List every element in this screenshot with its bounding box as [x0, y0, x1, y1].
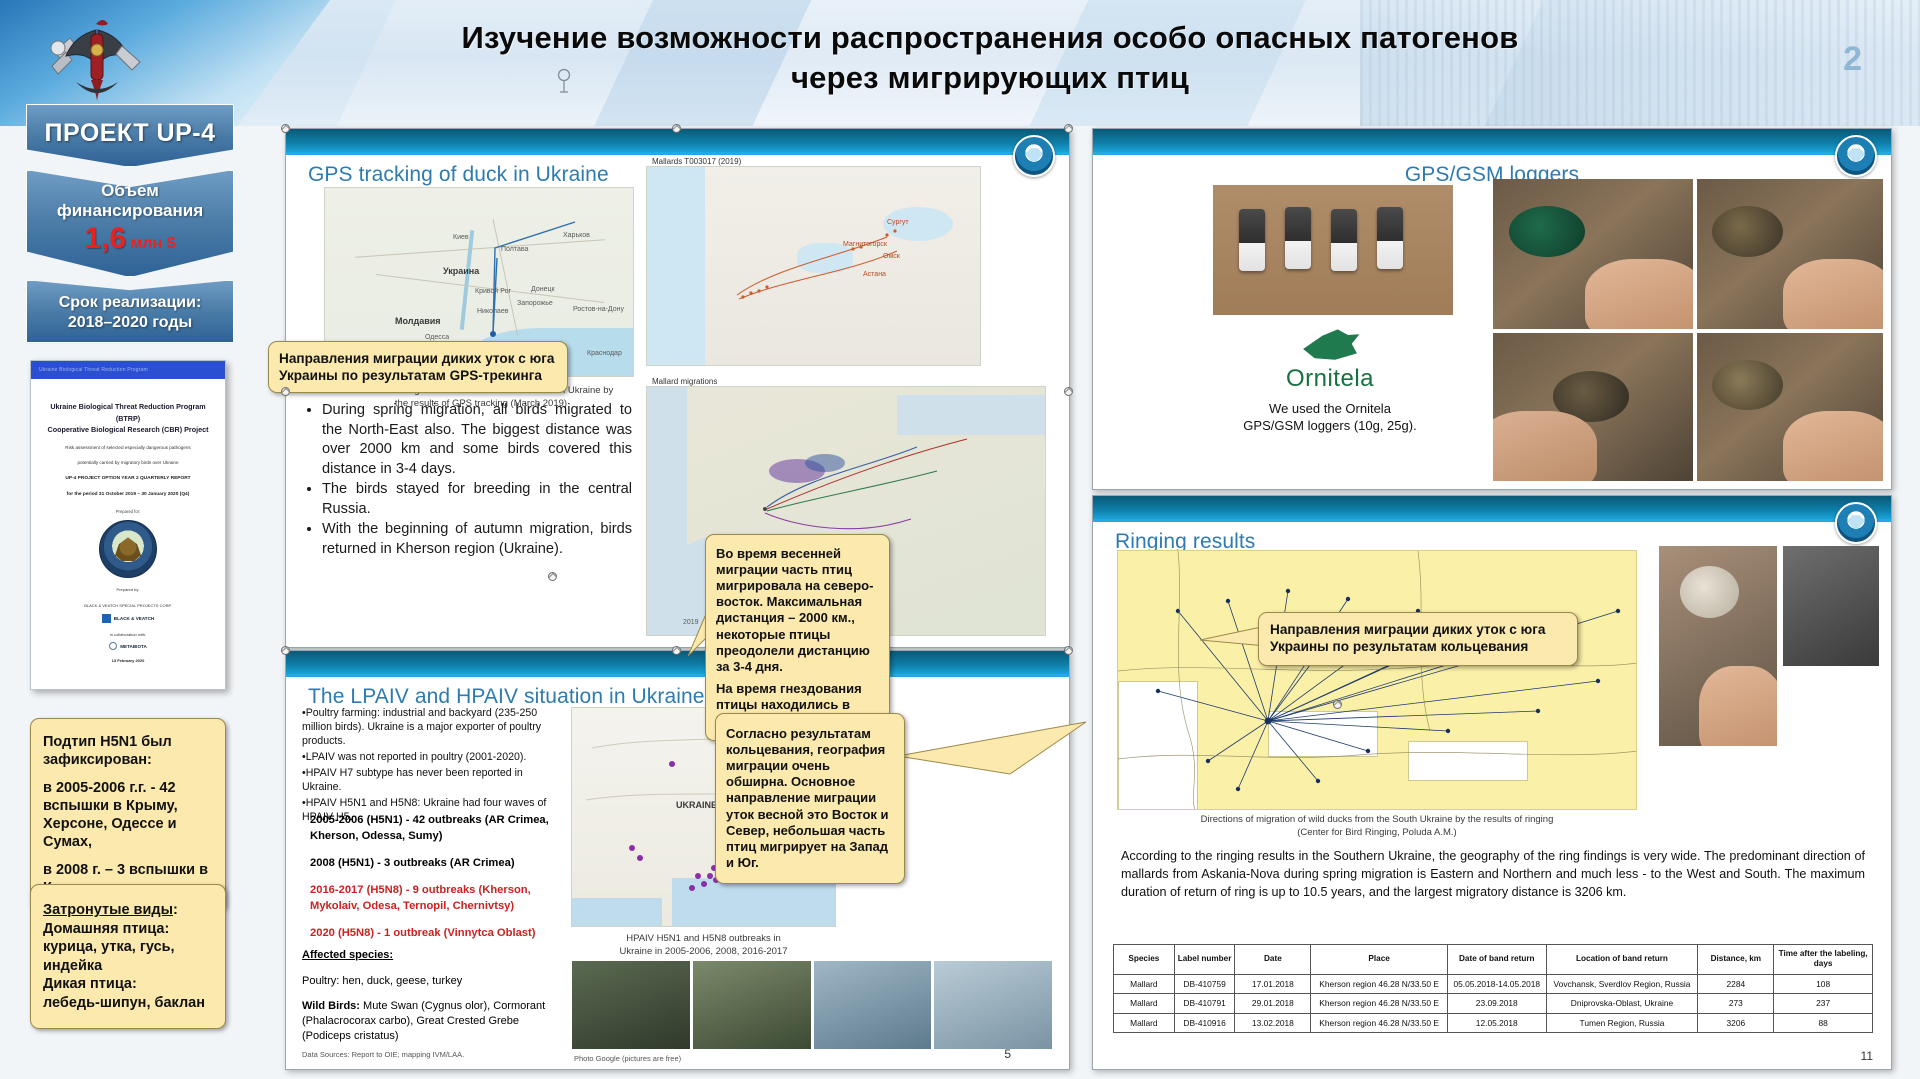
- cell-place: Kherson region 46.28 N/33.50 E: [1311, 994, 1448, 1014]
- cell-date: 17.01.2018: [1235, 974, 1311, 994]
- ornitela-wordmark: Ornitela: [1185, 365, 1475, 393]
- callout-ring-results-tail: [890, 716, 1090, 796]
- lpaiv-affected-species: Affected species: Poultry: hen, duck, ge…: [302, 937, 552, 1055]
- cell-distance: 2284: [1698, 974, 1774, 994]
- report-heading-1: Ukraine Biological Threat Reduction Prog…: [41, 401, 215, 424]
- cell-days: 108: [1774, 974, 1873, 994]
- report-line-2: for the period 31 October 2019 – 30 Janu…: [41, 491, 215, 499]
- dtra-seal-icon: [99, 520, 157, 578]
- project-title: ПРОЕКТ UP-4: [33, 119, 227, 148]
- selection-handle-bottom-right[interactable]: [1064, 646, 1073, 655]
- metabiota-logo-mark-icon: [109, 642, 117, 650]
- mallard-map-1: Сургут Магнитогорск Омск Астана: [646, 166, 981, 366]
- slide-badge-number: 2: [1843, 40, 1862, 79]
- panel-ringing-badge-icon: [1835, 502, 1877, 544]
- panel-gps-tracking: GPS tracking of duck in Ukraine Украина …: [285, 128, 1070, 648]
- callout-h5n1-line-1: Подтип H5N1 был зафиксирован:: [43, 733, 213, 770]
- metabiota-logo: METABIOTA: [41, 642, 215, 650]
- gps-bullet-list: During spring migration, all birds migra…: [302, 401, 632, 560]
- callout-h5n1-line-2: в 2005-2006 г.г. - 42 вспышки в Крыму, Х…: [43, 779, 213, 852]
- callout-ringing-conclusion: Согласно результатам кольцевания, геогра…: [715, 713, 905, 884]
- ornitela-brand: Ornitela We used the Ornitela GPS/GSM lo…: [1185, 327, 1475, 435]
- report-collab-label: in collaboration with:: [41, 631, 215, 639]
- selection-handle-callout-2[interactable]: [1333, 700, 1342, 709]
- mallard-map-1-wrap: Mallards T003017 (2019) Сургут Магни: [646, 157, 981, 366]
- funding-label-line-2: финансирования: [33, 201, 227, 221]
- callout-h5n1-subtype: Подтип H5N1 был зафиксирован: в 2005-200…: [30, 718, 226, 912]
- page-title-line-2: через мигрирующих птиц: [300, 58, 1680, 98]
- callout-species-line-1: Домашняя птица:: [43, 920, 213, 939]
- funding-unit: млн $: [131, 235, 176, 252]
- panel-lpaiv-heading: The LPAIV and HPAIV situation in Ukraine…: [286, 677, 1069, 709]
- cell-species: Mallard: [1114, 1013, 1175, 1033]
- affected-species-title: Affected species:: [302, 949, 393, 961]
- report-prepared-for: Prepared for:: [41, 509, 215, 514]
- lpaiv-year-2: 2008 (H5N1) - 3 outbreaks (AR Crimea): [310, 856, 558, 872]
- callout-ringing-directions-line-1: Направления миграции диких уток с юга: [1270, 622, 1566, 639]
- loggers-photo: [1213, 185, 1453, 315]
- callout-spring-migration: Во время весенней миграции часть птиц ми…: [705, 534, 890, 741]
- callout-gps-directions-line-1: Направления миграции диких уток с юга: [279, 350, 557, 367]
- duck-photo-1: [1493, 179, 1693, 329]
- ringing-map-caption-2: (Center for Bird Ringing, Poluda A.M.): [1103, 827, 1651, 840]
- callout-species-line-4: лебедь-шипун, баклан: [43, 994, 213, 1013]
- loggers-caption-line-1: We used the Ornitela: [1185, 401, 1475, 418]
- cell-location: Vovchansk, Sverdlov Region, Russia: [1546, 974, 1698, 994]
- panel-ringing-results: Ringing results: [1092, 495, 1892, 1070]
- outbreak-map-caption-2: Ukraine in 2005-2006, 2008, 2016-2017: [571, 946, 836, 959]
- affected-wild-label: Wild Birds:: [302, 1000, 360, 1012]
- table-row: Mallard DB-410759 17.01.2018 Kherson reg…: [1114, 974, 1873, 994]
- report-top-bar-text: Ukraine Biological Threat Reduction Prog…: [31, 361, 225, 373]
- funding-amount-row: 1,6 млн $: [33, 222, 227, 256]
- selection-handle-top-right[interactable]: [1064, 124, 1073, 133]
- cell-location: Tumen Region, Russia: [1546, 1013, 1698, 1033]
- selection-handle-top-center[interactable]: [672, 124, 681, 133]
- callout-gps-directions: Направления миграции диких уток с юга Ук…: [268, 341, 568, 393]
- callout-gps-directions-line-2: Украины по результатам GPS-трекинга: [279, 367, 557, 384]
- th-label-number: Label number: [1174, 945, 1235, 975]
- metabiota-logo-text: METABIOTA: [120, 644, 147, 649]
- report-subtitle-2: potentially carried by migratory birds o…: [41, 459, 215, 467]
- th-place: Place: [1311, 945, 1448, 975]
- callout-spring-line-1: Во время весенней миграции часть птиц ми…: [716, 546, 879, 675]
- cell-return: 05.05.2018-14.05.2018: [1447, 974, 1546, 994]
- swan-photo-1: [814, 961, 932, 1049]
- sidebar-project-chip: ПРОЕКТ UP-4: [26, 104, 234, 167]
- callout-ringing-directions-line-2: Украины по результатам кольцевания: [1270, 639, 1566, 656]
- report-prepared-by: Prepared by:: [41, 586, 215, 594]
- panel-lpaiv-hpaiv: The LPAIV and HPAIV situation in Ukraine…: [285, 650, 1070, 1070]
- page-title: Изучение возможности распространения осо…: [300, 18, 1680, 97]
- th-location: Location of band return: [1546, 945, 1698, 975]
- bv-logo-mark-icon: [102, 614, 111, 623]
- selection-handle-bottom-left[interactable]: [281, 646, 290, 655]
- term-value: 2018–2020 годы: [33, 313, 227, 333]
- panel-loggers-topbar: [1093, 129, 1891, 155]
- cell-place: Kherson region 46.28 N/33.50 E: [1311, 974, 1448, 994]
- ringing-summary-text: According to the ringing results in the …: [1121, 848, 1865, 902]
- panel-gps-badge-icon: [1013, 135, 1055, 177]
- loggers-caption-line-2: GPS/GSM loggers (10g, 25g).: [1185, 418, 1475, 435]
- cormorant-photo: [572, 961, 690, 1049]
- lpaiv-page-number: 5: [1004, 1047, 1011, 1061]
- ornitela-bird-icon: [1298, 327, 1362, 367]
- funding-label-line-1: Объем: [33, 181, 227, 201]
- outbreak-map-caption: HPAIV H5N1 and H5N8 outbreaks in Ukraine…: [571, 933, 836, 959]
- callout-species-title: Затронутые виды: [43, 902, 173, 918]
- loggers-caption: We used the Ornitela GPS/GSM loggers (10…: [1185, 401, 1475, 435]
- selection-handle-mid-left[interactable]: [281, 387, 290, 396]
- th-distance: Distance, km: [1698, 945, 1774, 975]
- cell-distance: 3206: [1698, 1013, 1774, 1033]
- table-row: Mallard DB-410791 29.01.2018 Kherson reg…: [1114, 994, 1873, 1014]
- lpaiv-body-line-1: •Poultry farming: industrial and backyar…: [302, 707, 550, 749]
- cell-return: 23.09.2018: [1447, 994, 1546, 1014]
- th-species: Species: [1114, 945, 1175, 975]
- lpaiv-outbreak-years: 2005-2006 (H5N1) - 42 outbreaks (AR Crim…: [310, 802, 558, 953]
- cell-location: Dniprovska-Oblast, Ukraine: [1546, 994, 1698, 1014]
- report-date: 13 February 2020: [41, 658, 215, 663]
- page-title-line-1: Изучение возможности распространения осо…: [300, 18, 1680, 58]
- gps-bullet-3: With the beginning of autumn migration, …: [322, 520, 632, 559]
- duck-photo-3: [1493, 333, 1693, 481]
- th-time-after: Time after the labeling, days: [1774, 945, 1873, 975]
- cell-date: 29.01.2018: [1235, 994, 1311, 1014]
- th-date-of-return: Date of band return: [1447, 945, 1546, 975]
- ringed-bird-photo: [1659, 546, 1777, 746]
- microphone-icon: [557, 68, 571, 94]
- ring-labels-photo: [1783, 546, 1879, 666]
- panel-loggers-badge-icon: [1835, 135, 1877, 177]
- sidebar-funding-chip: Объем финансирования 1,6 млн $: [26, 170, 234, 277]
- sidebar-term-chip: Срок реализации: 2018–2020 годы: [26, 280, 234, 343]
- affected-poultry: Poultry: hen, duck, geese, turkey: [302, 974, 552, 989]
- lpaiv-source-note: Data Sources: Report to OIE; mapping IVM…: [302, 1050, 464, 1059]
- ringing-page-number: 11: [1861, 1049, 1873, 1063]
- ringing-migration-map: [1117, 550, 1637, 810]
- lpaiv-photo-note: Photo Google (pictures are free): [574, 1054, 681, 1063]
- project-sidebar: ПРОЕКТ UP-4 Объем финансирования 1,6 млн…: [26, 104, 234, 354]
- report-cover-body: Ukraine Biological Threat Reduction Prog…: [31, 379, 225, 669]
- selection-handle-bottom-center[interactable]: [672, 646, 681, 655]
- cell-days: 88: [1774, 1013, 1873, 1033]
- grebe-photo: [693, 961, 811, 1049]
- lpaiv-year-3: 2016-2017 (H5N8) - 9 outbreaks (Kherson,…: [310, 883, 558, 915]
- swan-photo-2: [934, 961, 1052, 1049]
- bv-logo-text: BLACK & VEATCH: [114, 616, 155, 621]
- callout-species-line-2: курица, утка, гусь, индейка: [43, 938, 213, 975]
- report-top-bar: Ukraine Biological Threat Reduction Prog…: [31, 361, 225, 379]
- ringing-results-table: Species Label number Date Place Date of …: [1113, 944, 1873, 1033]
- panel-gps-topbar: [286, 129, 1069, 155]
- selection-handle-callout[interactable]: [548, 572, 557, 581]
- cell-label: DB-410759: [1174, 974, 1235, 994]
- report-subtitle-1: Risk assessment of selected especially d…: [41, 444, 215, 452]
- th-date: Date: [1235, 945, 1311, 975]
- gps-bullet-1: During spring migration, all birds migra…: [322, 401, 632, 479]
- callout-affected-species: Затронутые виды: Домашняя птица: курица,…: [30, 884, 226, 1029]
- report-cover-thumbnail: Ukraine Biological Threat Reduction Prog…: [30, 360, 226, 690]
- black-and-veatch-logo: BLACK & VEATCH: [41, 614, 215, 623]
- outbreak-map-caption-1: HPAIV H5N1 and H5N8 outbreaks in: [571, 933, 836, 946]
- lpaiv-body-line-2: •LPAIV was not reported in poultry (2001…: [302, 751, 550, 765]
- callout-ringing-directions: Направления миграции диких уток с юга Ук…: [1258, 612, 1578, 666]
- report-line-1: UP-4 PROJECT OPTION YEAR 2 QUARTERLY REP…: [41, 475, 215, 483]
- selection-handle-top-left[interactable]: [281, 124, 290, 133]
- ministry-of-defence-emblem: [36, 12, 156, 110]
- ringing-map-caption-1: Directions of migration of wild ducks fr…: [1103, 814, 1651, 827]
- panel-lpaiv-topbar: [286, 651, 1069, 677]
- bird-photo-strip: [572, 961, 1052, 1049]
- duck-photo-4: [1697, 333, 1883, 481]
- table-row: Mallard DB-410916 13.02.2018 Kherson reg…: [1114, 1013, 1873, 1033]
- table-header-row: Species Label number Date Place Date of …: [1114, 945, 1873, 975]
- lpaiv-body-line-3: •HPAIV H7 subtype has never been reporte…: [302, 767, 550, 795]
- ringing-map-caption: Directions of migration of wild ducks fr…: [1103, 814, 1651, 840]
- callout-ringing-conclusion-text: Согласно результатам кольцевания, геогра…: [726, 726, 894, 871]
- report-heading-2: Cooperative Biological Research (CBR) Pr…: [41, 424, 215, 436]
- cell-distance: 273: [1698, 994, 1774, 1014]
- ringing-route-lines: [1118, 551, 1637, 810]
- mallard-map-1-title: Mallards T003017 (2019): [646, 157, 981, 166]
- cell-species: Mallard: [1114, 974, 1175, 994]
- mallard-map-2-title: Mallard migrations: [646, 377, 1046, 386]
- panel-ringing-topbar: [1093, 496, 1891, 522]
- cell-date: 13.02.2018: [1235, 1013, 1311, 1033]
- cell-label: DB-410791: [1174, 994, 1235, 1014]
- term-label: Срок реализации:: [33, 293, 227, 313]
- cell-return: 12.05.2018: [1447, 1013, 1546, 1033]
- cell-species: Mallard: [1114, 994, 1175, 1014]
- panel-gps-gsm-loggers: GPS/GSM loggers Ornitela We used the Orn…: [1092, 128, 1892, 490]
- callout-species-line-3: Дикая птица:: [43, 975, 213, 994]
- cell-label: DB-410916: [1174, 1013, 1235, 1033]
- report-prepared-by-org: BLACK & VEATCH SPECIAL PROJECTS CORP.: [41, 602, 215, 610]
- gps-bullet-2: The birds stayed for breeding in the cen…: [322, 480, 632, 519]
- lpaiv-year-1: 2005-2006 (H5N1) - 42 outbreaks (AR Crim…: [310, 813, 558, 845]
- duck-photo-2: [1697, 179, 1883, 329]
- funding-amount: 1,6: [84, 222, 126, 255]
- slide-canvas: Изучение возможности распространения осо…: [0, 0, 1920, 1079]
- selection-handle-mid-right[interactable]: [1064, 387, 1073, 396]
- cell-place: Kherson region 46.28 N/33.50 E: [1311, 1013, 1448, 1033]
- cell-days: 237: [1774, 994, 1873, 1014]
- ringing-results-table-wrap: Species Label number Date Place Date of …: [1113, 944, 1873, 1033]
